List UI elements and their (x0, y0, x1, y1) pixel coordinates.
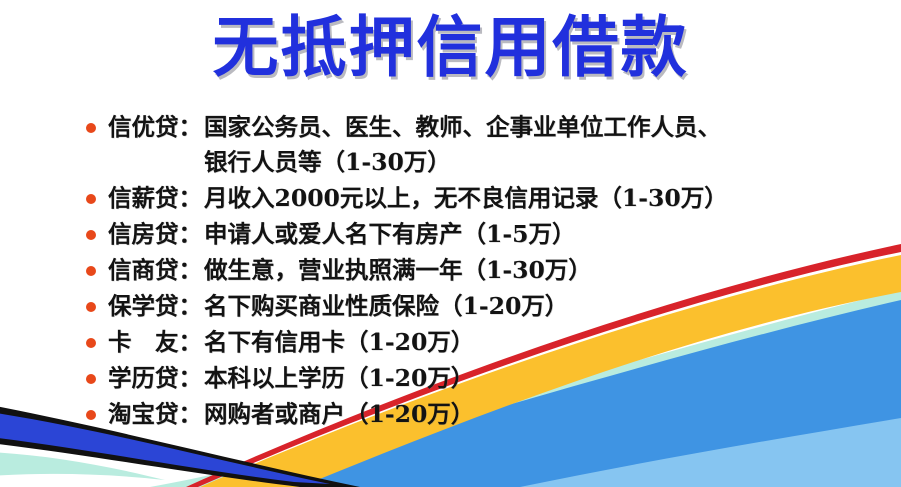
list-item: 信优贷：国家公务员、医生、教师、企事业单位工作人员、 银行人员等（1-30万） (86, 110, 876, 180)
list-item: 学历贷：本科以上学历（1-20万） (86, 361, 876, 396)
list-item: 信薪贷：月收入2000元以上，无不良信用记录（1-30万） (86, 181, 876, 216)
list-item-term: 卡 友： (108, 325, 204, 360)
page-title: 无抵押信用借款 (0, 8, 901, 86)
list-item-term: 学历贷： (108, 361, 204, 396)
bullet-icon (86, 410, 96, 420)
bullet-icon (86, 338, 96, 348)
list-item-term: 信房贷： (108, 217, 204, 252)
loan-product-list: 信优贷：国家公务员、医生、教师、企事业单位工作人员、 银行人员等（1-30万） … (86, 110, 876, 433)
bullet-icon (86, 230, 96, 240)
list-item-desc: 网购者或商户（1-20万） (204, 400, 474, 428)
list-item-desc: 本科以上学历（1-20万） (204, 364, 474, 392)
bullet-icon (86, 194, 96, 204)
list-item-desc: 做生意，营业执照满一年（1-30万） (204, 256, 592, 284)
list-item: 淘宝贷：网购者或商户（1-20万） (86, 397, 876, 432)
list-item: 卡 友：名下有信用卡（1-20万） (86, 325, 876, 360)
list-item-term: 保学贷： (108, 289, 204, 324)
list-item: 信房贷：申请人或爱人名下有房产（1-5万） (86, 217, 876, 252)
swoosh-band-cyan-left (0, 452, 165, 480)
list-item-term: 淘宝贷： (108, 397, 204, 432)
bullet-icon (86, 266, 96, 276)
list-item-term: 信商贷： (108, 253, 204, 288)
list-item-desc: 名下有信用卡（1-20万） (204, 328, 474, 356)
list-item-desc: 申请人或爱人名下有房产（1-5万） (204, 220, 575, 248)
list-item: 信商贷：做生意，营业执照满一年（1-30万） (86, 253, 876, 288)
list-item-desc: 国家公务员、医生、教师、企事业单位工作人员、 (204, 113, 721, 141)
bullet-icon (86, 123, 96, 133)
list-item-term: 信优贷： (108, 110, 204, 145)
list-item-continuation: 银行人员等（1-30万） (108, 145, 876, 180)
poster-root: 无抵押信用借款 信优贷：国家公务员、医生、教师、企事业单位工作人员、 银行人员等… (0, 0, 901, 487)
bullet-icon (86, 302, 96, 312)
list-item-desc: 名下购买商业性质保险（1-20万） (204, 292, 568, 320)
list-item-desc: 月收入2000元以上，无不良信用记录（1-30万） (204, 184, 728, 212)
list-item-term: 信薪贷： (108, 181, 204, 216)
list-item: 保学贷：名下购买商业性质保险（1-20万） (86, 289, 876, 324)
bullet-icon (86, 374, 96, 384)
